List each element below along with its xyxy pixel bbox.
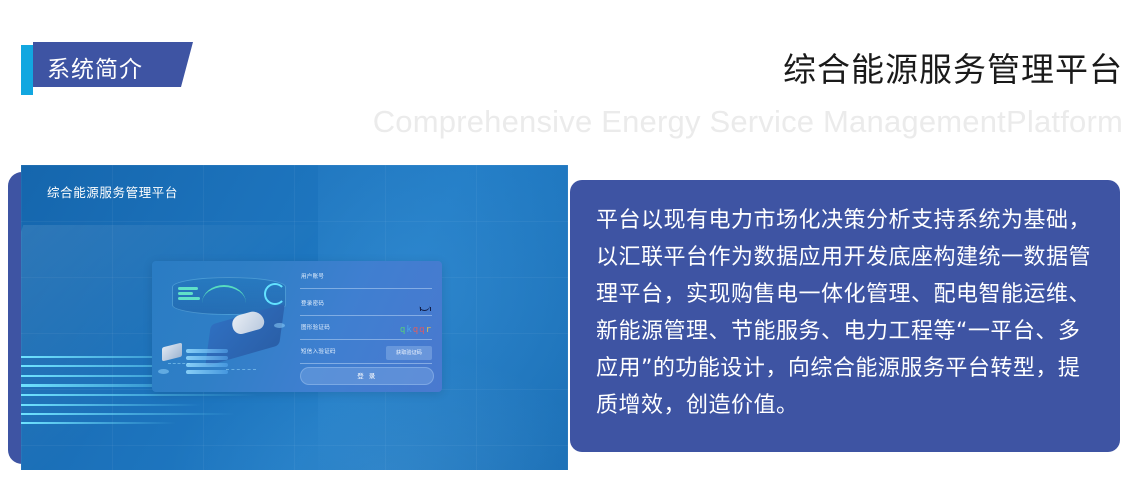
server-stack-illustration: [186, 349, 228, 375]
node-dot-icon: [158, 369, 169, 374]
login-form: 用户账号 登录密码 图形验证码 qkqqr 短信入验证码 获取验证码 登 录: [300, 269, 432, 385]
section-tag-accent-bar: [21, 45, 33, 95]
eye-icon[interactable]: [419, 304, 430, 311]
page-subtitle: Comprehensive Energy Service ManagementP…: [373, 104, 1123, 140]
description-block: 平台以现有电力市场化决策分析支持系统为基础，以汇联平台作为数据应用开发底座构建统…: [570, 180, 1120, 452]
section-tag-banner: 系统简介: [21, 42, 181, 84]
donut-chart-icon: [264, 283, 286, 305]
username-label: 用户账号: [301, 272, 324, 280]
password-label: 登录密码: [301, 299, 324, 307]
connector-line: [168, 363, 190, 364]
app-screenshot-panel: 综合能源服务管理平台 用户账号 登录密码: [21, 165, 568, 470]
page-title: 综合能源服务管理平台: [783, 43, 1123, 91]
send-code-button[interactable]: 获取验证码: [386, 346, 432, 360]
device-box-illustration: [162, 343, 182, 362]
image-captcha-field[interactable]: 图形验证码 qkqqr: [300, 320, 432, 340]
username-field[interactable]: 用户账号: [300, 269, 432, 289]
password-field[interactable]: 登录密码: [300, 296, 432, 316]
image-captcha-label: 图形验证码: [301, 323, 330, 331]
chart-bar-icon: [178, 292, 193, 295]
sms-code-label: 短信入验证码: [301, 347, 336, 355]
login-illustration: [156, 265, 296, 388]
sms-code-field[interactable]: 短信入验证码 获取验证码: [300, 344, 432, 364]
node-dot-icon: [274, 323, 285, 328]
description-text: 平台以现有电力市场化决策分析支持系统为基础，以汇联平台作为数据应用开发底座构建统…: [596, 202, 1096, 424]
chart-bar-icon: [178, 297, 200, 300]
section-tag-label: 系统简介: [47, 50, 143, 84]
chart-bar-icon: [178, 287, 198, 290]
login-card: 用户账号 登录密码 图形验证码 qkqqr 短信入验证码 获取验证码 登 录: [152, 261, 442, 392]
app-screenshot-title: 综合能源服务管理平台: [47, 182, 178, 201]
connector-line: [226, 369, 256, 370]
captcha-image[interactable]: qkqqr: [388, 324, 432, 337]
login-submit-button[interactable]: 登 录: [300, 367, 434, 385]
